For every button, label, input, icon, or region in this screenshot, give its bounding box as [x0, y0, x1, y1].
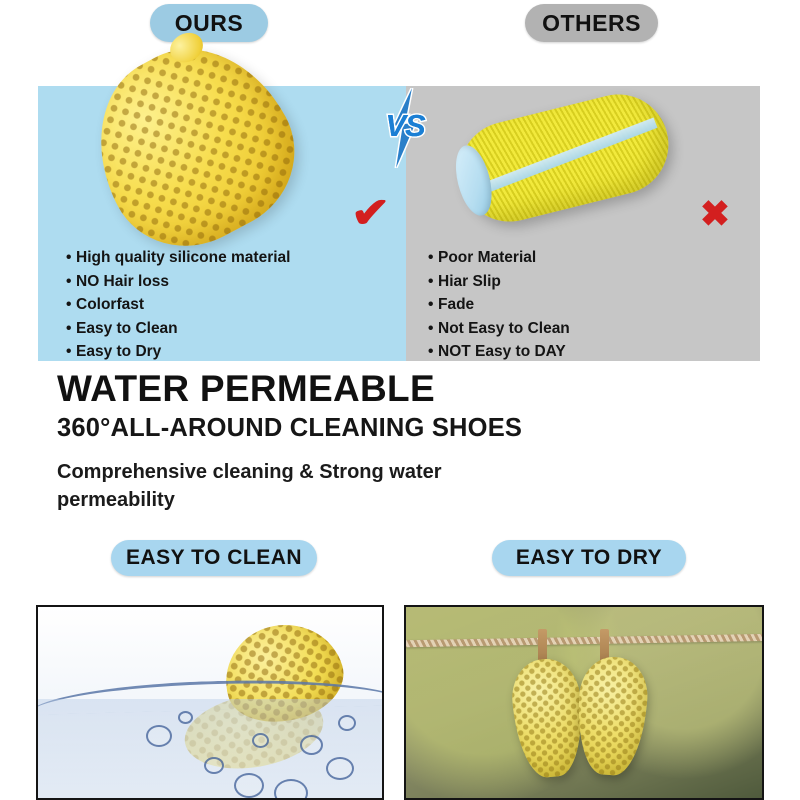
clothesline-rope [404, 634, 764, 648]
water-body [38, 699, 382, 800]
vs-text: VS [374, 108, 436, 144]
bubble-icon [252, 733, 269, 748]
list-item: •Easy to Dry [66, 340, 290, 364]
clothespin-icon [538, 629, 547, 662]
list-item: •Colorfast [66, 293, 290, 317]
others-product-image [449, 84, 679, 232]
others-feature-list: •Poor Material •Hiar Slip •Fade •Not Eas… [428, 246, 570, 364]
list-item: •NOT Easy to DAY [428, 340, 570, 364]
bullet-icon: • [66, 293, 76, 317]
easy-to-dry-badge: EASY TO DRY [492, 540, 686, 576]
hanging-shoe-cleaner [574, 655, 650, 777]
page-subtitle: 360°ALL-AROUND CLEANING SHOES [57, 413, 757, 443]
cross-icon: ✖ [700, 196, 730, 232]
feature-text: Easy to Clean [76, 320, 178, 337]
bubble-icon [204, 757, 224, 774]
list-item: •NO Hair loss [66, 270, 290, 294]
mesh-holes-pattern [574, 655, 650, 777]
list-item: •Fade [428, 293, 570, 317]
ours-feature-list: •High quality silicone material •NO Hair… [66, 246, 290, 364]
bubble-icon [300, 735, 323, 755]
bullet-icon: • [66, 340, 76, 364]
others-panel: ✖ •Poor Material •Hiar Slip •Fade •Not E… [406, 86, 760, 361]
page-description: Comprehensive cleaning & Strong water pe… [57, 458, 487, 515]
comparison-section: OURS OTHERS ✔ •High quality silicone mat… [0, 0, 800, 362]
ours-panel: ✔ •High quality silicone material •NO Ha… [38, 86, 406, 361]
ours-product-image [65, 17, 322, 274]
feature-text: Colorfast [76, 296, 144, 313]
bullet-icon: • [66, 270, 76, 294]
bullet-icon: • [428, 293, 438, 317]
list-item: •Poor Material [428, 246, 570, 270]
bubble-icon [338, 715, 356, 731]
bullet-icon: • [428, 246, 438, 270]
feature-text: Fade [438, 296, 474, 313]
list-item: •Hiar Slip [428, 270, 570, 294]
easy-to-clean-photo [36, 605, 384, 800]
bullet-icon: • [66, 246, 76, 270]
bubble-icon [234, 773, 264, 798]
list-item: •Not Easy to Clean [428, 317, 570, 341]
feature-text: High quality silicone material [76, 249, 290, 266]
feature-text: Not Easy to Clean [438, 320, 570, 337]
easy-to-dry-photo [404, 605, 764, 800]
bullet-icon: • [66, 317, 76, 341]
check-icon: ✔ [351, 192, 390, 234]
bubble-icon [326, 757, 354, 780]
bullet-icon: • [428, 340, 438, 364]
feature-text: NO Hair loss [76, 273, 169, 290]
others-badge: OTHERS [525, 4, 658, 42]
easy-to-clean-badge: EASY TO CLEAN [111, 540, 317, 576]
feature-text: Hiar Slip [438, 273, 501, 290]
feature-text: Poor Material [438, 249, 536, 266]
list-item: •High quality silicone material [66, 246, 290, 270]
bubble-icon [178, 711, 193, 724]
bubble-icon [274, 779, 308, 800]
fabric-blue-band [475, 118, 657, 197]
bullet-icon: • [428, 270, 438, 294]
feature-text: Easy to Dry [76, 343, 161, 360]
headline-block: WATER PERMEABLE 360°ALL-AROUND CLEANING … [57, 368, 757, 444]
list-item: •Easy to Clean [66, 317, 290, 341]
product-infographic-page: OURS OTHERS ✔ •High quality silicone mat… [0, 0, 800, 800]
bullet-icon: • [428, 317, 438, 341]
feature-text: NOT Easy to DAY [438, 343, 566, 360]
page-title: WATER PERMEABLE [57, 368, 757, 409]
bubble-icon [146, 725, 172, 747]
versus-badge: VS VS [374, 88, 436, 168]
